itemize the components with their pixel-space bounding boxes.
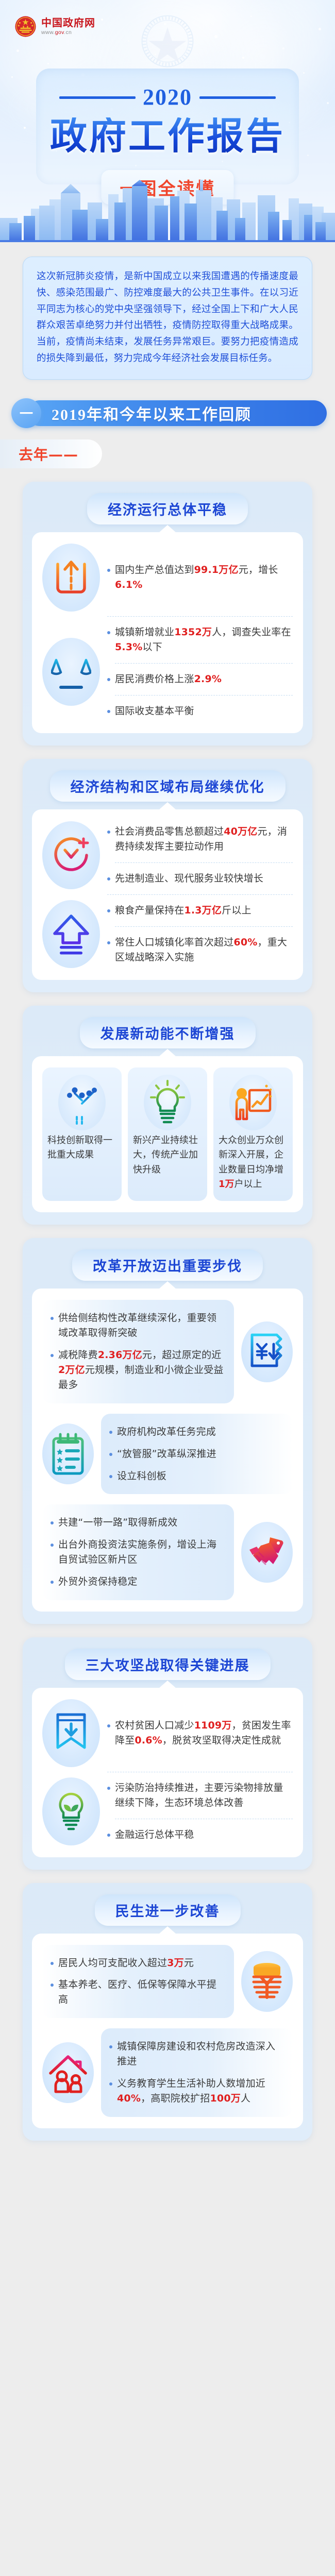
card-body: 供给侧结构性改革继续深化，重要领域改革取得新突破 减税降费2.36万亿元，超过原… xyxy=(32,1289,303,1612)
coin-stack-yuan-icon xyxy=(241,1951,293,2012)
tinted-panel: 供给侧结构性改革继续深化，重要领域改革取得新突破 减税降费2.36万亿元，超过原… xyxy=(42,1300,234,1403)
hero-title: 政府工作报告 xyxy=(36,117,299,155)
bullet-list: 居民人均可支配收入超过3万元 基本养老、医疗、低保等保障水平提高 xyxy=(42,1945,234,2019)
clipboard-checklist-icon xyxy=(42,1423,94,1484)
bullet-item: 常住人口城镇化率首次超过60%，重大区域战略深入实施 xyxy=(107,931,293,969)
bullet-text: 国际收支基本平衡 xyxy=(115,704,194,719)
tinted-panel: 政府机构改革任务完成 “放管服”改革纵深推进 设立科创板 xyxy=(101,1414,293,1495)
tinted-panel: 居民人均可支配收入超过3万元 基本养老、医疗、低保等保障水平提高 xyxy=(42,1945,234,2019)
group-spacer xyxy=(42,1494,293,1504)
bullet-dot-icon xyxy=(107,710,110,713)
bullet-list: 农村贫困人口减少1109万，贫困发生率降至0.6%，脱贫攻坚取得决定性成就 xyxy=(107,1715,293,1752)
rule-right xyxy=(199,96,276,99)
title-plaque: 2020 政府工作报告 xyxy=(36,69,299,184)
card-body: 国内生产总值达到99.1万亿元，增长6.1% 城镇新增就业1352万人，调查失业… xyxy=(32,532,303,734)
card-notch xyxy=(159,802,176,810)
year-tab: 去年—— xyxy=(0,439,102,468)
bullet-list: 粮食产量保持在1.3万亿斤以上 常住人口城镇化率首次超过60%，重大区域战略深入… xyxy=(107,900,293,969)
section-banner-bar: 2019年和今年以来工作回顾 xyxy=(27,400,327,426)
bullet-list: 供给侧结构性改革继续深化，重要领域改革取得新突破 减税降费2.36万亿元，超过原… xyxy=(42,1300,234,1403)
bullet-text: 粮食产量保持在1.3万亿斤以上 xyxy=(115,903,252,918)
bullet-dot-icon xyxy=(107,877,110,880)
bullet-item: 先进制造业、现代服务业较快增长 xyxy=(107,868,293,890)
hero-banner: 中国政府网 www.gov.cn 2020 政府工作报告 一图全读懂 xyxy=(0,0,335,242)
bullet-dot-icon xyxy=(107,909,110,912)
group-spacer xyxy=(42,2018,293,2028)
intro-section: 这次新冠肺炎疫情，是新中国成立以来我国遭遇的传播速度最快、感染范围最广、防控难度… xyxy=(0,242,335,380)
card-body: 科技创新取得一批重大成果 新兴产业持续壮大，传统产业加快升级 大众创业万众创新深… xyxy=(32,1056,303,1213)
hero-year: 2020 xyxy=(143,86,192,109)
card-notch xyxy=(159,1681,176,1688)
icon-text-row: 城镇新增就业1352万人，调查失业率在5.3%以下 居民消费价格上涨2.9% 国… xyxy=(42,621,293,722)
bullet-item: 设立科创板 xyxy=(109,1465,284,1487)
china-national-emblem-icon xyxy=(14,15,37,38)
section-title: 2019年和今年以来工作回顾 xyxy=(52,402,252,425)
bullet-dot-icon xyxy=(107,1834,110,1837)
content-card: 三大攻坚战取得关键进展 农村贫困人口减少1109万，贫困发生率降至0.6%，脱贫… xyxy=(23,1637,312,1870)
person-growth-chart-icon xyxy=(229,1075,277,1130)
bullet-list: 共建“一带一路”取得新成效 出台外商投资法实施条例，增设上海自贸试验区新片区 外… xyxy=(42,1504,234,1600)
bullet-text: 外贸外资保持稳定 xyxy=(58,1574,138,1589)
bullet-item: 粮食产量保持在1.3万亿斤以上 xyxy=(107,900,293,922)
bullet-item: 供给侧结构性改革继续深化，重要领域改革取得新突破 xyxy=(51,1307,226,1344)
bullet-item: 义务教育学生生活补助人数增加近40%，高职院校扩招100万人 xyxy=(109,2073,284,2110)
bullet-text: 共建“一带一路”取得新成效 xyxy=(58,1515,177,1530)
down-arrow-bookmark-icon xyxy=(42,1699,100,1767)
site-url: www.gov.cn xyxy=(41,30,95,36)
bullet-dot-icon xyxy=(51,1962,54,1965)
bullet-text: 基本养老、医疗、低保等保障水平提高 xyxy=(58,1977,226,2007)
card-title: 改革开放迈出重要步伐 xyxy=(72,1249,263,1281)
bullet-dot-icon xyxy=(109,2082,112,2086)
bullet-item: 出台外商投资法实施条例，增设上海自贸试验区新片区 xyxy=(51,1534,226,1571)
bullet-item: “放管服”改革纵深推进 xyxy=(109,1443,284,1465)
bullet-item: 污染防治持续推进，主要污染物排放量继续下降，生态环境总体改善 xyxy=(107,1777,293,1814)
section-number-badge: 一 xyxy=(11,398,41,428)
section-banner: 2019年和今年以来工作回顾 一 xyxy=(11,395,335,430)
bullet-divider xyxy=(115,862,293,863)
bullet-dot-icon xyxy=(107,569,110,572)
card-notch xyxy=(159,1926,176,1934)
bullet-dot-icon xyxy=(107,678,110,681)
feature-column: 大众创业万众创新深入开展，企业数量日均净增1万户以上 xyxy=(213,1067,293,1201)
icon-text-row: 政府机构改革任务完成 “放管服”改革纵深推进 设立科创板 xyxy=(42,1414,293,1495)
house-family-icon xyxy=(42,2042,94,2103)
feature-column: 科技创新取得一批重大成果 xyxy=(42,1067,122,1201)
bullet-text: 减税降费2.36万亿元，超过原定的近2万亿元规模，制造业和小微企业受益最多 xyxy=(58,1348,226,1393)
bullet-text: 国内生产总值达到99.1万亿元，增长6.1% xyxy=(115,563,293,592)
bullet-dot-icon xyxy=(51,1984,54,1987)
bullet-text: 供给侧结构性改革继续深化，重要领域改革取得新突破 xyxy=(58,1311,226,1341)
site-name-cn: 中国政府网 xyxy=(41,18,95,28)
card-body: 社会消费品零售总额超过40万亿元，消费持续发挥主要拉动作用 先进制造业、现代服务… xyxy=(32,809,303,979)
handshake-icon xyxy=(241,1522,293,1583)
bullet-text: 出台外商投资法实施条例，增设上海自贸试验区新片区 xyxy=(58,1537,226,1567)
bullet-list: 城镇保障房建设和农村危房改造深入推进 义务教育学生生活补助人数增加近40%，高职… xyxy=(101,2028,293,2117)
bullet-text: 居民消费价格上涨2.9% xyxy=(115,672,222,687)
card-notch xyxy=(159,1049,176,1057)
bullet-item: 共建“一带一路”取得新成效 xyxy=(51,1512,226,1534)
bullet-item: 国内生产总值达到99.1万亿元，增长6.1% xyxy=(107,559,293,596)
bullet-list: 污染防治持续推进，主要污染物排放量继续下降，生态环境总体改善 金融运行总体平稳 xyxy=(107,1777,293,1846)
triple-column-group: 科技创新取得一批重大成果 新兴产业持续壮大，传统产业加快升级 大众创业万众创新深… xyxy=(42,1067,293,1201)
feature-text: 新兴产业持续壮大，传统产业加快升级 xyxy=(133,1133,202,1177)
cards-container: 经济运行总体平稳 国内生产总值达到99.1万亿元，增长6.1% xyxy=(0,482,335,2141)
intro-paragraph: 这次新冠肺炎疫情，是新中国成立以来我国遭遇的传播速度最快、感染范围最广、防控难度… xyxy=(37,268,298,367)
content-card: 改革开放迈出重要步伐 供给侧结构性改革继续深化，重要领域改革取得新突破 减税降费… xyxy=(23,1238,312,1624)
card-title: 经济运行总体平稳 xyxy=(87,493,248,524)
bullet-item: 国际收支基本平衡 xyxy=(107,700,293,722)
bullet-divider xyxy=(115,926,293,927)
bullet-text: 城镇新增就业1352万人，调查失业率在5.3%以下 xyxy=(115,625,293,655)
year-row: 2020 xyxy=(36,86,299,109)
bullet-text: 城镇保障房建设和农村危房改造深入推进 xyxy=(117,2039,284,2069)
group-spacer xyxy=(42,1403,293,1414)
bullet-dot-icon xyxy=(109,1475,112,1478)
group-divider xyxy=(107,1772,293,1772)
bullet-dot-icon xyxy=(107,631,110,634)
bullet-text: 义务教育学生生活补助人数增加近40%，高职院校扩招100万人 xyxy=(117,2076,284,2106)
bullet-dot-icon xyxy=(51,1544,54,1547)
site-logo[interactable]: 中国政府网 www.gov.cn xyxy=(14,15,95,38)
bullet-item: 城镇新增就业1352万人，调查失业率在5.3%以下 xyxy=(107,621,293,658)
icon-text-row: 供给侧结构性改革继续深化，重要领域改革取得新突破 减税降费2.36万亿元，超过原… xyxy=(42,1300,293,1403)
bullet-text: 居民人均可支配收入超过3万元 xyxy=(58,1956,194,1971)
card-notch xyxy=(159,525,176,533)
rule-left xyxy=(59,96,136,99)
content-card: 经济运行总体平稳 国内生产总值达到99.1万亿元，增长6.1% xyxy=(23,482,312,746)
content-card: 发展新动能不断增强 科技创新取得一批重大成果 新兴产业持续壮大，传统产业加快升级 xyxy=(23,1006,312,1225)
card-body: 居民人均可支配收入超过3万元 基本养老、医疗、低保等保障水平提高 城镇保障房建设… xyxy=(32,1934,303,2128)
bullet-dot-icon xyxy=(107,1724,110,1727)
bullet-text: 污染防治持续推进，主要污染物排放量继续下降，生态环境总体改善 xyxy=(115,1781,293,1810)
bullet-item: 居民人均可支配收入超过3万元 xyxy=(51,1952,226,1974)
bullet-text: 常住人口城镇化率首次超过60%，重大区域战略深入实施 xyxy=(115,935,293,965)
bullet-list: 国内生产总值达到99.1万亿元，增长6.1% xyxy=(107,559,293,596)
icon-text-row: 污染防治持续推进，主要污染物排放量继续下降，生态环境总体改善 金融运行总体平稳 xyxy=(42,1777,293,1846)
tinted-panel: 共建“一带一路”取得新成效 出台外商投资法实施条例，增设上海自贸试验区新片区 外… xyxy=(42,1504,234,1600)
circuit-tree-icon xyxy=(58,1075,106,1130)
bullet-list: 城镇新增就业1352万人，调查失业率在5.3%以下 居民消费价格上涨2.9% 国… xyxy=(107,621,293,722)
bullet-text: “放管服”改革纵深推进 xyxy=(117,1447,216,1462)
bullet-dot-icon xyxy=(107,831,110,834)
bullet-text: 政府机构改革任务完成 xyxy=(117,1425,216,1439)
feature-text: 大众创业万众创新深入开展，企业数量日均净增1万户以上 xyxy=(219,1133,288,1192)
bullet-dot-icon xyxy=(109,1431,112,1434)
city-skyline-illustration xyxy=(0,173,335,242)
tinted-panel: 城镇保障房建设和农村危房改造深入推进 义务教育学生生活补助人数增加近40%，高职… xyxy=(101,2028,293,2117)
bullet-text: 金融运行总体平稳 xyxy=(115,1827,194,1842)
bullet-item: 减税降费2.36万亿元，超过原定的近2万亿元规模，制造业和小微企业受益最多 xyxy=(51,1344,226,1396)
bullet-dot-icon xyxy=(51,1581,54,1584)
year-tab-label: 去年—— xyxy=(19,444,78,464)
bullet-dot-icon xyxy=(107,1787,110,1790)
bullet-item: 城镇保障房建设和农村危房改造深入推进 xyxy=(109,2036,284,2073)
bullet-dot-icon xyxy=(51,1354,54,1357)
bullet-item: 外贸外资保持稳定 xyxy=(51,1571,226,1593)
group-divider xyxy=(107,616,293,617)
yuan-down-document-icon xyxy=(241,1321,293,1382)
content-card: 民生进一步改善 居民人均可支配收入超过3万元 基本养老、医疗、低保等保障水平提高 xyxy=(23,1883,312,2141)
feature-text: 科技创新取得一批重大成果 xyxy=(47,1133,116,1163)
bullet-dot-icon xyxy=(51,1317,54,1320)
icon-text-row: 粮食产量保持在1.3万亿斤以上 常住人口城镇化率首次超过60%，重大区域战略深入… xyxy=(42,900,293,969)
bullet-item: 基本养老、医疗、低保等保障水平提高 xyxy=(51,1974,226,2011)
icon-text-row: 共建“一带一路”取得新成效 出台外商投资法实施条例，增设上海自贸试验区新片区 外… xyxy=(42,1504,293,1600)
card-notch xyxy=(159,1281,176,1289)
card-title: 经济结构和区域布局继续优化 xyxy=(50,770,286,802)
bullet-item: 农村贫困人口减少1109万，贫困发生率降至0.6%，脱贫攻坚取得决定性成就 xyxy=(107,1715,293,1752)
card-body: 农村贫困人口减少1109万，贫困发生率降至0.6%，脱贫攻坚取得决定性成就 污染… xyxy=(32,1688,303,1857)
card-title: 发展新动能不断增强 xyxy=(80,1017,256,1048)
bullet-dot-icon xyxy=(107,941,110,944)
icon-text-row: 国内生产总值达到99.1万亿元，增长6.1% xyxy=(42,544,293,612)
bullet-text: 社会消费品零售总额超过40万亿元，消费持续发挥主要拉动作用 xyxy=(115,824,293,854)
icon-text-row: 社会消费品零售总额超过40万亿元，消费持续发挥主要拉动作用 先进制造业、现代服务… xyxy=(42,821,293,890)
yuan-plus-circle-icon xyxy=(42,821,100,889)
bullet-dot-icon xyxy=(109,2045,112,2048)
bottom-spacer xyxy=(0,2141,335,2163)
bullet-divider xyxy=(115,1819,293,1819)
bullet-dot-icon xyxy=(109,1453,112,1456)
green-lightbulb-icon xyxy=(144,1075,191,1130)
bullet-text: 设立科创板 xyxy=(117,1469,166,1484)
icon-text-row: 农村贫困人口减少1109万，贫困发生率降至0.6%，脱贫攻坚取得决定性成就 xyxy=(42,1699,293,1767)
bullet-dot-icon xyxy=(51,1521,54,1524)
bullet-item: 社会消费品零售总额超过40万亿元，消费持续发挥主要拉动作用 xyxy=(107,821,293,858)
bullet-divider xyxy=(115,663,293,664)
bullet-list: 政府机构改革任务完成 “放管服”改革纵深推进 设立科创板 xyxy=(101,1414,293,1495)
bullet-item: 金融运行总体平稳 xyxy=(107,1824,293,1846)
bullet-item: 政府机构改革任务完成 xyxy=(109,1421,284,1443)
arrow-up-in-box-icon xyxy=(42,544,100,612)
icon-text-row: 居民人均可支配收入超过3万元 基本养老、医疗、低保等保障水平提高 xyxy=(42,1945,293,2019)
up-arrow-bar-icon xyxy=(42,900,100,968)
group-divider xyxy=(107,894,293,895)
balance-scale-icon xyxy=(42,638,100,706)
bullet-text: 先进制造业、现代服务业较快增长 xyxy=(115,871,263,886)
feature-column: 新兴产业持续壮大，传统产业加快升级 xyxy=(128,1067,207,1201)
content-card: 经济结构和区域布局继续优化 社会消费品零售总额超过40万亿元，消费持续发挥主要拉… xyxy=(23,759,312,992)
card-title: 民生进一步改善 xyxy=(95,1894,241,1926)
eco-leaf-bulb-icon xyxy=(42,1777,100,1845)
icon-text-row: 城镇保障房建设和农村危房改造深入推进 义务教育学生生活补助人数增加近40%，高职… xyxy=(42,2028,293,2117)
bullet-list: 社会消费品零售总额超过40万亿元，消费持续发挥主要拉动作用 先进制造业、现代服务… xyxy=(107,821,293,890)
bullet-item: 居民消费价格上涨2.9% xyxy=(107,668,293,690)
bullet-text: 农村贫困人口减少1109万，贫困发生率降至0.6%，脱贫攻坚取得决定性成就 xyxy=(115,1718,293,1748)
intro-card: 这次新冠肺炎疫情，是新中国成立以来我国遭遇的传播速度最快、感染范围最广、防控难度… xyxy=(23,257,312,380)
card-title: 三大攻坚战取得关键进展 xyxy=(65,1649,271,1680)
bullet-divider xyxy=(115,695,293,696)
